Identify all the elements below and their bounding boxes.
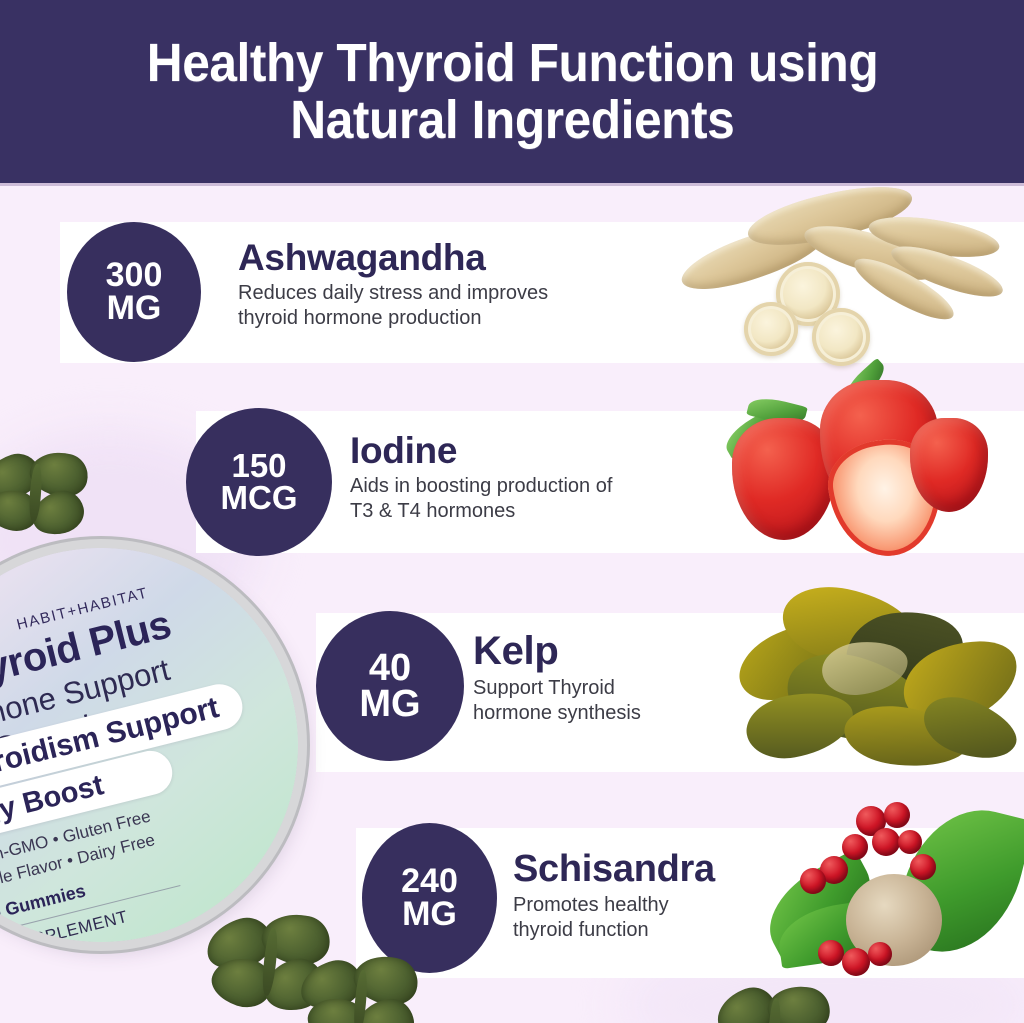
ingredient-desc-line-2: hormone synthesis: [473, 701, 641, 726]
ingredient-name: Kelp: [473, 631, 641, 672]
ingredient-text-schisandra: Schisandra Promotes healthy thyroid func…: [513, 850, 715, 943]
dosage-amount: 240: [401, 865, 458, 898]
butterfly-gummy: [206, 912, 336, 1018]
dosage-unit: MG: [107, 292, 162, 325]
jar-label: HABIT+HABITAT Thyroid Plus Hormone Suppo…: [0, 548, 298, 942]
dosage-badge-kelp: 40 MG: [316, 611, 464, 761]
ingredient-desc-line-1: Support Thyroid: [473, 676, 641, 701]
ingredient-desc-line-1: Promotes healthy: [513, 893, 715, 918]
ingredient-name: Schisandra: [513, 850, 715, 889]
dosage-amount: 40: [369, 650, 411, 686]
ingredient-desc-line-1: Reduces daily stress and improves: [238, 281, 548, 306]
page-title-line-1: Healthy Thyroid Function using: [146, 35, 877, 92]
ingredient-text-kelp: Kelp Support Thyroid hormone synthesis: [473, 631, 641, 726]
infographic-canvas: Healthy Thyroid Function using Natural I…: [0, 0, 1024, 1023]
dosage-unit: MCG: [221, 482, 298, 514]
dosage-badge-iodine: 150 MCG: [186, 408, 332, 556]
dosage-badge-schisandra: 240 MG: [362, 823, 497, 973]
product-jar: HABIT+HABITAT Thyroid Plus Hormone Suppo…: [0, 548, 298, 942]
dosage-badge-ashwagandha: 300 MG: [67, 222, 201, 362]
ingredient-desc-line-2: T3 & T4 hormones: [350, 499, 612, 524]
dosage-amount: 150: [231, 450, 286, 482]
ingredient-desc-line-2: thyroid hormone production: [238, 306, 548, 331]
ingredient-desc-line-1: Aids in boosting production of: [350, 474, 612, 499]
dosage-unit: MG: [359, 686, 420, 722]
ingredient-text-iodine: Iodine Aids in boosting production of T3…: [350, 432, 612, 524]
ingredient-name: Ashwagandha: [238, 239, 548, 277]
header-divider: [0, 183, 1024, 186]
ingredient-text-ashwagandha: Ashwagandha Reduces daily stress and imp…: [238, 239, 548, 331]
ingredient-name: Iodine: [350, 432, 612, 470]
dosage-unit: MG: [402, 898, 457, 931]
page-title-line-2: Natural Ingredients: [290, 92, 734, 149]
dosage-amount: 300: [106, 259, 163, 292]
ingredient-desc-line-2: thyroid function: [513, 918, 715, 943]
header-banner: Healthy Thyroid Function using Natural I…: [0, 0, 1024, 183]
